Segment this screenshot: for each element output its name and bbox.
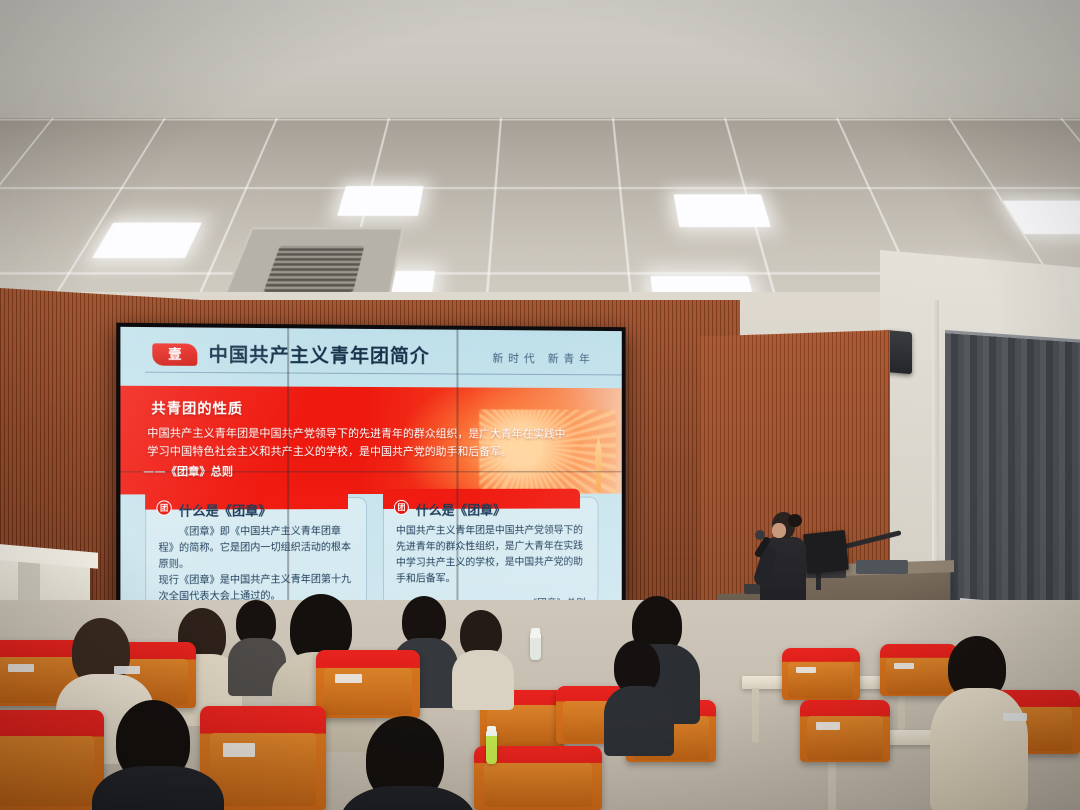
league-emblem-icon: 团 bbox=[394, 500, 409, 515]
seat-number-tag bbox=[114, 666, 140, 675]
seat-number-tag bbox=[894, 663, 914, 670]
slide-card-right: 团 什么是《团章》 中国共产主义青年团是中国共产党领导下的先进青年的群众性组织，… bbox=[383, 497, 599, 607]
bottle-cap bbox=[531, 628, 540, 634]
card-paragraph-1: 《团章》即《中国共产主义青年团章程》的简称。它是团内一切组织活动的根本原则。 bbox=[158, 524, 354, 573]
auditorium-seat bbox=[316, 650, 420, 718]
banner-heading: 共青团的性质 bbox=[151, 398, 243, 419]
student-body bbox=[92, 766, 224, 810]
video-wall-display[interactable]: 壹 中国共产主义青年团简介 新时代 新青年 共青团的性质 中国共产主义青年团是中… bbox=[116, 323, 625, 612]
presentation-slide: 壹 中国共产主义青年团简介 新时代 新青年 共青团的性质 中国共产主义青年团是中… bbox=[120, 327, 621, 607]
auditorium-seat bbox=[800, 700, 890, 762]
banner-source: ——《团章》总则 bbox=[143, 463, 233, 479]
section-number-badge: 壹 bbox=[152, 343, 197, 366]
student bbox=[930, 636, 1020, 810]
lecture-hall-scene: 壹 中国共产主义青年团简介 新时代 新青年 共青团的性质 中国共产主义青年团是中… bbox=[0, 0, 1080, 810]
calligraphy-motto: 新时代 新青年 bbox=[492, 350, 594, 367]
banner-paragraph: 中国共产主义青年团是中国共产党领导下的先进青年的群众组织，是广大青年在实践中学习… bbox=[147, 424, 567, 461]
student bbox=[92, 700, 218, 810]
seat-number-tag bbox=[335, 674, 362, 683]
drink-bottle bbox=[486, 730, 497, 764]
bottle-cap bbox=[487, 726, 496, 732]
seat-number-tag bbox=[816, 722, 839, 730]
drink-bottle bbox=[530, 632, 541, 660]
slide-title: 中国共产主义青年团简介 bbox=[209, 340, 430, 369]
auditorium-seat bbox=[782, 648, 860, 700]
student-body bbox=[340, 786, 476, 810]
league-emblem-icon: 团 bbox=[156, 500, 171, 515]
card-title: 什么是《团章》 bbox=[179, 500, 272, 519]
slide-card-row: 团 什么是《团章》 《团章》即《中国共产主义青年团章程》的简称。它是团内一切组织… bbox=[120, 497, 621, 608]
slide-card-left: 团 什么是《团章》 《团章》即《中国共产主义青年团章程》的简称。它是团内一切组织… bbox=[145, 497, 367, 607]
upper-wall bbox=[0, 0, 1080, 135]
student-body bbox=[452, 650, 514, 710]
presenter-hair-bun bbox=[788, 514, 802, 527]
window-curtain bbox=[945, 330, 1080, 609]
wall-conduit-pipe bbox=[932, 300, 939, 590]
student bbox=[340, 716, 470, 810]
av-equipment bbox=[856, 560, 908, 574]
presenter-face bbox=[772, 523, 786, 538]
student-body bbox=[604, 686, 674, 756]
seat-number-tag bbox=[796, 667, 816, 674]
seat-number-tag bbox=[8, 664, 34, 673]
seat-number-tag bbox=[223, 743, 256, 757]
slide-header: 壹 中国共产主义青年团简介 新时代 新青年 bbox=[120, 327, 621, 388]
student-body bbox=[930, 688, 1028, 810]
card-paragraph-1: 中国共产主义青年团是中国共产党领导下的先进青年的群众性组织，是广大青年在实践中学… bbox=[396, 523, 586, 588]
desk-leg bbox=[752, 688, 759, 742]
header-divider bbox=[145, 372, 622, 376]
microphone-head bbox=[755, 530, 765, 540]
student bbox=[604, 640, 670, 740]
card-title: 什么是《团章》 bbox=[416, 500, 506, 519]
slide-red-banner: 共青团的性质 中国共产主义青年团是中国共产党领导下的先进青年的群众组织，是广大青… bbox=[120, 386, 621, 495]
auditorium-seat bbox=[0, 710, 104, 810]
ceiling-light bbox=[337, 186, 423, 216]
student bbox=[452, 610, 510, 690]
seat-number-tag bbox=[1003, 713, 1027, 721]
ceiling-light bbox=[673, 194, 770, 227]
